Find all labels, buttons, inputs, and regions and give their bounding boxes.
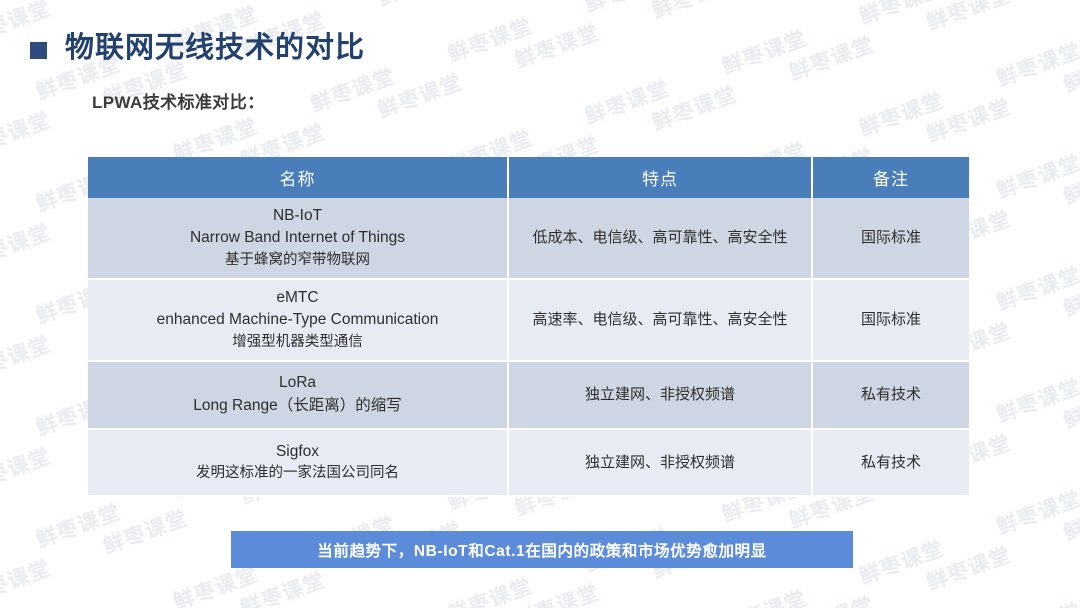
cell-line: eMTC (98, 287, 497, 309)
table-body: NB-IoT Narrow Band Internet of Things 基于… (88, 198, 969, 496)
cell-name: eMTC enhanced Machine-Type Communication… (88, 279, 508, 361)
bullet-square-icon (30, 42, 47, 59)
cell-line: 基于蜂窝的窄带物联网 (98, 250, 497, 271)
cell-line: Sigfox (98, 441, 497, 463)
cell-features: 独立建网、非授权频谱 (508, 361, 812, 429)
column-header-features: 特点 (508, 157, 812, 198)
cell-name: Sigfox 发明这标准的一家法国公司同名 (88, 429, 508, 496)
cell-line: 发明这标准的一家法国公司同名 (98, 463, 497, 484)
cell-line: Long Range（长距离）的缩写 (98, 395, 497, 417)
table-row: NB-IoT Narrow Band Internet of Things 基于… (88, 198, 969, 279)
slide-title-row: 物联网无线技术的对比 (30, 33, 365, 65)
cell-features: 独立建网、非授权频谱 (508, 429, 812, 496)
cell-features: 低成本、电信级、高可靠性、高安全性 (508, 198, 812, 279)
cell-features: 高速率、电信级、高可靠性、高安全性 (508, 279, 812, 361)
lpwa-comparison-table: 名称 特点 备注 NB-IoT Narrow Band Internet of … (88, 157, 969, 497)
cell-name: LoRa Long Range（长距离）的缩写 (88, 361, 508, 429)
column-header-name: 名称 (88, 157, 508, 198)
cell-remark: 国际标准 (812, 279, 969, 361)
cell-remark: 私有技术 (812, 429, 969, 496)
table-row: Sigfox 发明这标准的一家法国公司同名 独立建网、非授权频谱 私有技术 (88, 429, 969, 496)
table-header-row: 名称 特点 备注 (88, 157, 969, 198)
column-header-remark: 备注 (812, 157, 969, 198)
cell-name: NB-IoT Narrow Band Internet of Things 基于… (88, 198, 508, 279)
page-title: 物联网无线技术的对比 (65, 33, 365, 65)
table-row: eMTC enhanced Machine-Type Communication… (88, 279, 969, 361)
cell-line: NB-IoT (98, 205, 497, 227)
cell-line: LoRa (98, 372, 497, 394)
footer-banner-text: 当前趋势下，NB-IoT和Cat.1在国内的政策和市场优势愈加明显 (317, 539, 767, 561)
slide-subtitle: LPWA技术标准对比： (92, 88, 265, 113)
cell-line: enhanced Machine-Type Communication (98, 309, 497, 331)
table-row: LoRa Long Range（长距离）的缩写 独立建网、非授权频谱 私有技术 (88, 361, 969, 429)
cell-line: 增强型机器类型通信 (98, 332, 497, 353)
cell-remark: 国际标准 (812, 198, 969, 279)
footer-banner: 当前趋势下，NB-IoT和Cat.1在国内的政策和市场优势愈加明显 (231, 531, 853, 568)
cell-remark: 私有技术 (812, 361, 969, 429)
slide-canvas: 物联网无线技术的对比 LPWA技术标准对比： 名称 特点 备注 NB-IoT N… (0, 0, 1080, 608)
cell-line: Narrow Band Internet of Things (98, 227, 497, 249)
